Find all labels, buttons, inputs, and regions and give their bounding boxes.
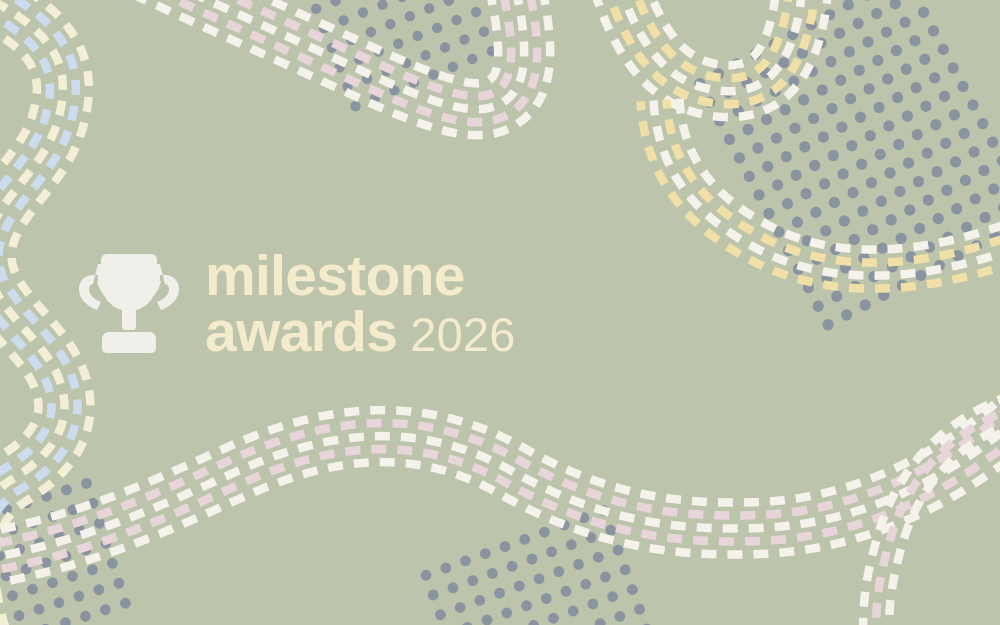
wordmark-year: 2026 bbox=[410, 312, 515, 359]
trophy-icon bbox=[75, 252, 183, 356]
brand-lockup: milestone awards 2026 bbox=[75, 248, 516, 361]
awards-poster: milestone awards 2026 bbox=[0, 0, 1000, 625]
wordmark: milestone awards 2026 bbox=[205, 248, 516, 361]
wordmark-line-milestone: milestone bbox=[205, 248, 516, 304]
wordmark-line-awards-year: awards 2026 bbox=[205, 304, 516, 360]
wordmark-awards: awards bbox=[205, 304, 397, 360]
